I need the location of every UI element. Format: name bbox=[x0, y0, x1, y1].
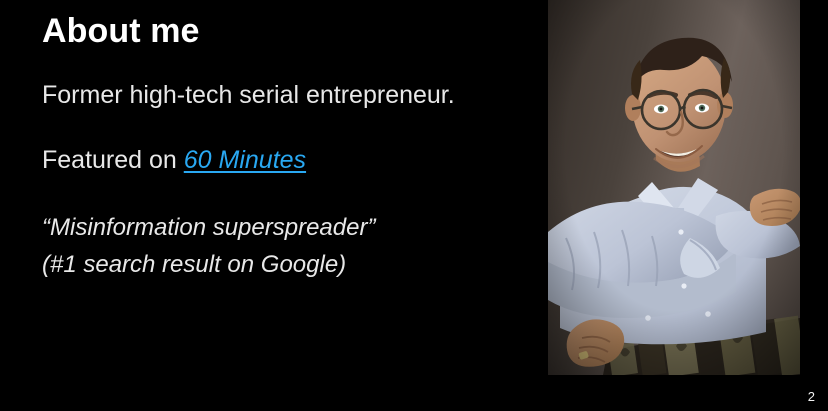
quote-line-2: (#1 search result on Google) bbox=[42, 246, 375, 283]
portrait-photo bbox=[548, 0, 800, 375]
slide-about-me: About me Former high-tech serial entrepr… bbox=[0, 0, 828, 411]
page-title: About me bbox=[42, 10, 200, 52]
body-text-line-1: Former high-tech serial entrepreneur. bbox=[42, 79, 455, 111]
quote-line-1: “Misinformation superspreader” bbox=[42, 209, 375, 246]
sixty-minutes-link[interactable]: 60 Minutes bbox=[184, 146, 306, 174]
featured-on-label: Featured on bbox=[42, 146, 184, 174]
text-column: About me Former high-tech serial entrepr… bbox=[42, 0, 532, 411]
quote-block: “Misinformation superspreader” (#1 searc… bbox=[42, 209, 375, 283]
page-number: 2 bbox=[808, 389, 815, 405]
body-text-line-2: Featured on 60 Minutes bbox=[42, 144, 306, 176]
